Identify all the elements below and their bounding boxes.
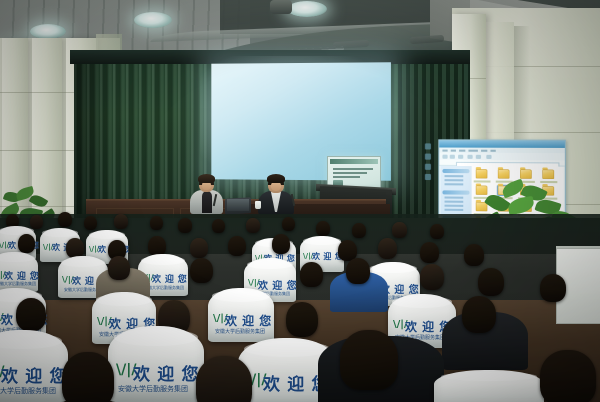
chair-cover-subtext: 安徽大学后勤服务集团 [144, 285, 184, 291]
audience-head [228, 236, 246, 256]
desktop-icon [425, 174, 431, 180]
back-icon [442, 155, 447, 159]
audience-chair: \/|/ 欢 迎 您 安徽大学后勤服务集团 [208, 288, 274, 342]
audience-head [346, 258, 370, 284]
ceiling-downlight-icon [30, 24, 66, 39]
folder-icon [476, 169, 488, 178]
presenter-left-top [202, 191, 212, 213]
audience-head [352, 223, 366, 238]
audience-head [66, 238, 84, 258]
audience-head [114, 214, 128, 229]
chair-cover-subtext: 安徽大学后勤服务集团 [215, 328, 265, 335]
audience-head [246, 218, 260, 233]
monitor-text-line [333, 168, 373, 170]
chair-cover-text: 欢 迎 您 [133, 360, 199, 385]
audience-head [286, 302, 318, 337]
menu-item-favorites [468, 149, 477, 151]
audience-head [462, 296, 496, 333]
audience-head [272, 234, 290, 254]
audience-head [16, 298, 46, 331]
audience-head [430, 224, 444, 239]
folders-icon [476, 155, 481, 159]
menu-item-edit [451, 149, 456, 151]
chair-cover-text: 欢 迎 您 [152, 272, 187, 285]
chair-cover-text: 欢 迎 您 [258, 277, 297, 292]
audience-head [316, 221, 330, 236]
task-pane-link [445, 196, 464, 198]
ceiling-downlight-icon [134, 12, 172, 28]
chair-cover-text: 欢 迎 您 [1, 362, 67, 387]
audience-head [282, 217, 295, 231]
audience-head-foreground [340, 330, 398, 390]
menu-item-help [490, 149, 495, 151]
audience-head [58, 212, 72, 227]
audience-head-foreground [196, 356, 252, 402]
audience-head [464, 244, 484, 266]
desktop-icon [425, 164, 431, 170]
audience-head-foreground [540, 350, 596, 402]
audience-head-foreground [62, 352, 114, 402]
audience-head [420, 242, 439, 263]
chair-cover-text: 欢 迎 您 [225, 312, 272, 329]
task-pane-header [442, 169, 469, 173]
ceiling-speaker-icon [270, 0, 292, 14]
task-pane-link [445, 175, 464, 177]
task-pane-link [445, 201, 464, 203]
task-pane-link [445, 179, 464, 181]
folder-icon [542, 170, 554, 179]
leaf [507, 196, 535, 215]
audience-chair [434, 370, 544, 402]
menu-item-view [459, 149, 465, 151]
menu-item-file [442, 149, 447, 151]
task-pane-link [445, 209, 464, 211]
audience-head [30, 215, 43, 229]
desktop-icon [425, 154, 431, 160]
audience-head [18, 234, 35, 253]
audience-chair: \/|/ 欢 迎 您 安徽大学后勤服务集团 [108, 326, 204, 402]
ceiling-downlight-icon [287, 1, 327, 17]
audience-head [378, 238, 397, 259]
audience-chair: \/|/ 欢 迎 您 安徽大学后勤服务集团 [0, 252, 38, 292]
desktop-icon-column [424, 141, 433, 202]
audience-head [148, 236, 166, 256]
presenter-right-hair [267, 174, 285, 183]
folder-icon [498, 169, 510, 178]
presenter-left-hair [198, 174, 215, 183]
audience-head [540, 274, 566, 302]
audience-head [392, 222, 407, 238]
paper-cup [255, 201, 261, 209]
forward-icon [450, 155, 455, 159]
audience-head [178, 218, 192, 233]
laptop-screen [227, 199, 249, 211]
audience-head [190, 238, 208, 258]
chair-cover-subtext: 安徽大学后勤服务集团 [0, 281, 36, 287]
desktop-icon [425, 143, 431, 149]
menu-item-tools [481, 149, 487, 151]
chair-cover-subtext: 安徽大学后勤服务集团 [0, 386, 56, 396]
task-pane-link [445, 205, 464, 207]
views-icon [486, 155, 491, 159]
audience-head [108, 256, 130, 280]
audience-head [420, 264, 444, 290]
monitor-header-band [330, 159, 378, 164]
monitor-text-line [333, 172, 367, 174]
task-pane-link [445, 183, 464, 185]
audience-chair: \/|/ 欢 迎 您 安徽大学后勤服务集团 [0, 330, 68, 402]
audience-head [212, 219, 225, 233]
audience-head [150, 216, 163, 230]
monitor-text-line [333, 176, 360, 178]
lecture-hall-photograph: \/|/ 欢 迎 您 \/|/ 欢 迎 您 \/|/ 欢 迎 您 \/|/ 欢 … [0, 0, 600, 402]
task-pane-header [442, 190, 469, 194]
audience-head [190, 258, 213, 283]
stage-curtain-valance [70, 50, 470, 64]
search-icon [467, 155, 472, 159]
leaf [29, 192, 49, 209]
chair-cover-subtext: 安徽大学后勤服务集团 [118, 384, 188, 394]
audience-head [300, 262, 323, 287]
up-icon [458, 155, 463, 159]
audience-head [478, 268, 504, 296]
audience-head [84, 216, 97, 230]
folder-icon [520, 169, 532, 178]
